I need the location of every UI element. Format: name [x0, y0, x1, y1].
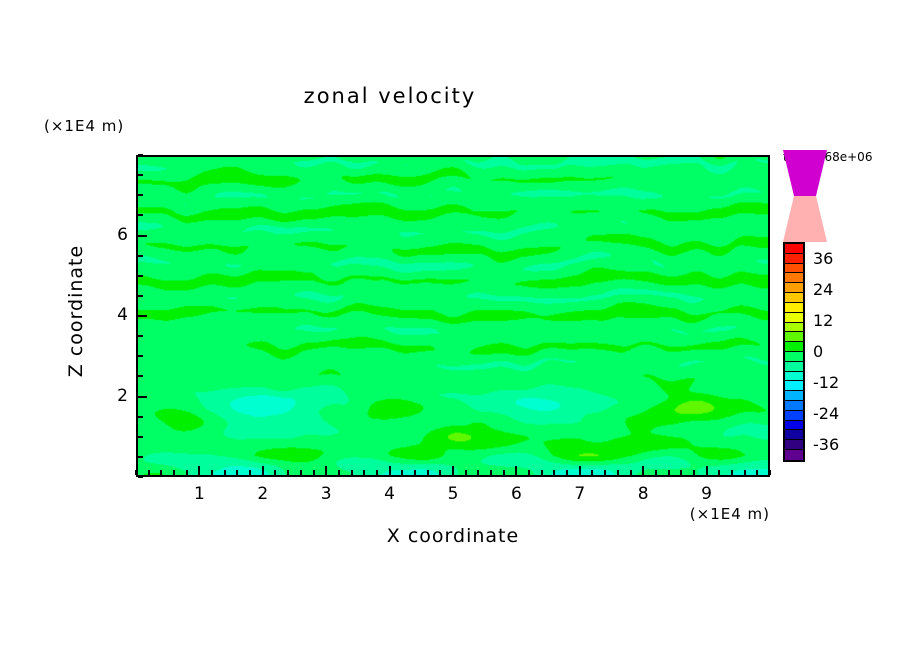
y-tick-minor — [138, 275, 143, 277]
y-tick-minor — [138, 456, 143, 458]
x-tick-minor — [211, 470, 213, 475]
x-tick-minor — [300, 470, 302, 475]
x-tick-minor — [668, 470, 670, 475]
x-tick-label: 7 — [560, 484, 600, 504]
x-tick-minor — [274, 470, 276, 475]
x-tick-label: 2 — [243, 484, 283, 504]
x-tick-minor — [693, 470, 695, 475]
colorbar-band — [785, 372, 803, 382]
x-tick-label: 4 — [370, 484, 410, 504]
x-tick-minor — [553, 470, 555, 475]
colorbar-band — [785, 391, 803, 401]
y-tick-minor — [138, 154, 143, 156]
x-tick-minor — [351, 470, 353, 475]
x-tick-minor — [249, 470, 251, 475]
colorbar-band — [785, 421, 803, 431]
y-tick-minor — [138, 295, 143, 297]
y-tick-minor — [138, 355, 143, 357]
colorbar-band — [785, 401, 803, 411]
colorbar-tick-label: -12 — [813, 373, 839, 392]
y-tick-minor — [138, 174, 143, 176]
y-tick-major — [138, 396, 147, 398]
x-tick-minor — [135, 470, 137, 475]
x-tick-minor — [731, 470, 733, 475]
x-tick-minor — [630, 470, 632, 475]
x-tick-minor — [224, 470, 226, 475]
colorbar-band — [785, 244, 803, 254]
x-tick-minor — [363, 470, 365, 475]
x-axis-unit-label: (×1E4 m) — [610, 505, 770, 523]
colorbar-tick-label: 36 — [813, 249, 833, 268]
x-tick-minor — [313, 470, 315, 475]
y-tick-minor — [138, 335, 143, 337]
colorbar-band — [785, 283, 803, 293]
colorbar-band — [785, 293, 803, 303]
x-tick-major — [262, 466, 264, 475]
x-tick-label: 5 — [433, 484, 473, 504]
x-tick-label: 1 — [179, 484, 219, 504]
x-tick-major — [198, 466, 200, 475]
x-tick-minor — [490, 470, 492, 475]
colorbar-band — [785, 362, 803, 372]
y-tick-major — [138, 235, 147, 237]
x-tick-minor — [604, 470, 606, 475]
x-tick-major — [452, 466, 454, 475]
x-tick-major — [325, 466, 327, 475]
contour-field — [138, 157, 768, 475]
colorbar-band — [785, 313, 803, 323]
x-tick-major — [642, 466, 644, 475]
x-tick-label: 3 — [306, 484, 346, 504]
x-tick-minor — [528, 470, 530, 475]
x-tick-minor — [477, 470, 479, 475]
x-axis-title: X coordinate — [136, 525, 770, 547]
y-axis-unit-label: (×1E4 m) — [44, 117, 124, 135]
y-tick-minor — [138, 375, 143, 377]
plot-page: zonal velocity (×1E4 m) (×1E4 m) Z coord… — [0, 0, 904, 654]
colorbar-band — [785, 273, 803, 283]
y-tick-minor — [138, 214, 143, 216]
contour-plot-area — [136, 155, 770, 477]
x-tick-minor — [148, 470, 150, 475]
x-tick-major — [706, 466, 708, 475]
x-tick-minor — [465, 470, 467, 475]
colorbar-band — [785, 381, 803, 391]
colorbar-band — [785, 254, 803, 264]
x-tick-minor — [287, 470, 289, 475]
colorbar-under-cap — [783, 150, 827, 196]
x-tick-minor — [439, 470, 441, 475]
y-tick-label: 2 — [98, 386, 128, 406]
y-tick-minor — [138, 416, 143, 418]
colorbar-band — [785, 411, 803, 421]
x-tick-major — [389, 466, 391, 475]
x-tick-minor — [173, 470, 175, 475]
x-tick-minor — [427, 470, 429, 475]
y-tick-major — [138, 315, 147, 317]
x-tick-label: 8 — [623, 484, 663, 504]
colorbar-tick-label: -36 — [813, 435, 839, 454]
y-tick-minor — [138, 194, 143, 196]
x-tick-minor — [186, 470, 188, 475]
x-tick-minor — [769, 470, 771, 475]
colorbar-over-cap — [783, 196, 827, 242]
colorbar-band — [785, 323, 803, 333]
x-tick-minor — [655, 470, 657, 475]
colorbar-band — [785, 332, 803, 342]
x-tick-minor — [401, 470, 403, 475]
x-tick-major — [579, 466, 581, 475]
colorbar-band — [785, 303, 803, 313]
x-tick-minor — [503, 470, 505, 475]
x-tick-minor — [744, 470, 746, 475]
x-tick-minor — [680, 470, 682, 475]
x-tick-minor — [718, 470, 720, 475]
colorbar-tick-label: -24 — [813, 404, 839, 423]
x-tick-label: 6 — [496, 484, 536, 504]
colorbar-tick-label: 12 — [813, 311, 833, 330]
colorbar-band — [785, 440, 803, 450]
y-tick-label: 6 — [98, 225, 128, 245]
x-tick-minor — [566, 470, 568, 475]
colorbar-tick-label: 0 — [813, 342, 823, 361]
colorbar-band — [785, 450, 803, 460]
colorbar-tick-label: 24 — [813, 280, 833, 299]
y-tick-label: 4 — [98, 305, 128, 325]
y-tick-minor — [138, 436, 143, 438]
x-tick-minor — [376, 470, 378, 475]
y-tick-minor — [138, 476, 143, 478]
colorbar-band — [785, 342, 803, 352]
colorbar-bands — [783, 242, 805, 462]
x-tick-minor — [617, 470, 619, 475]
y-tick-minor — [138, 255, 143, 257]
x-tick-major — [515, 466, 517, 475]
x-tick-minor — [338, 470, 340, 475]
x-tick-minor — [236, 470, 238, 475]
x-tick-minor — [756, 470, 758, 475]
colorbar-band — [785, 352, 803, 362]
x-tick-minor — [160, 470, 162, 475]
y-axis-title: Z coordinate — [65, 211, 87, 411]
page-title: zonal velocity — [0, 84, 780, 108]
colorbar-band — [785, 430, 803, 440]
x-tick-minor — [414, 470, 416, 475]
x-tick-label: 9 — [687, 484, 727, 504]
x-tick-minor — [591, 470, 593, 475]
colorbar-band — [785, 264, 803, 274]
x-tick-minor — [541, 470, 543, 475]
